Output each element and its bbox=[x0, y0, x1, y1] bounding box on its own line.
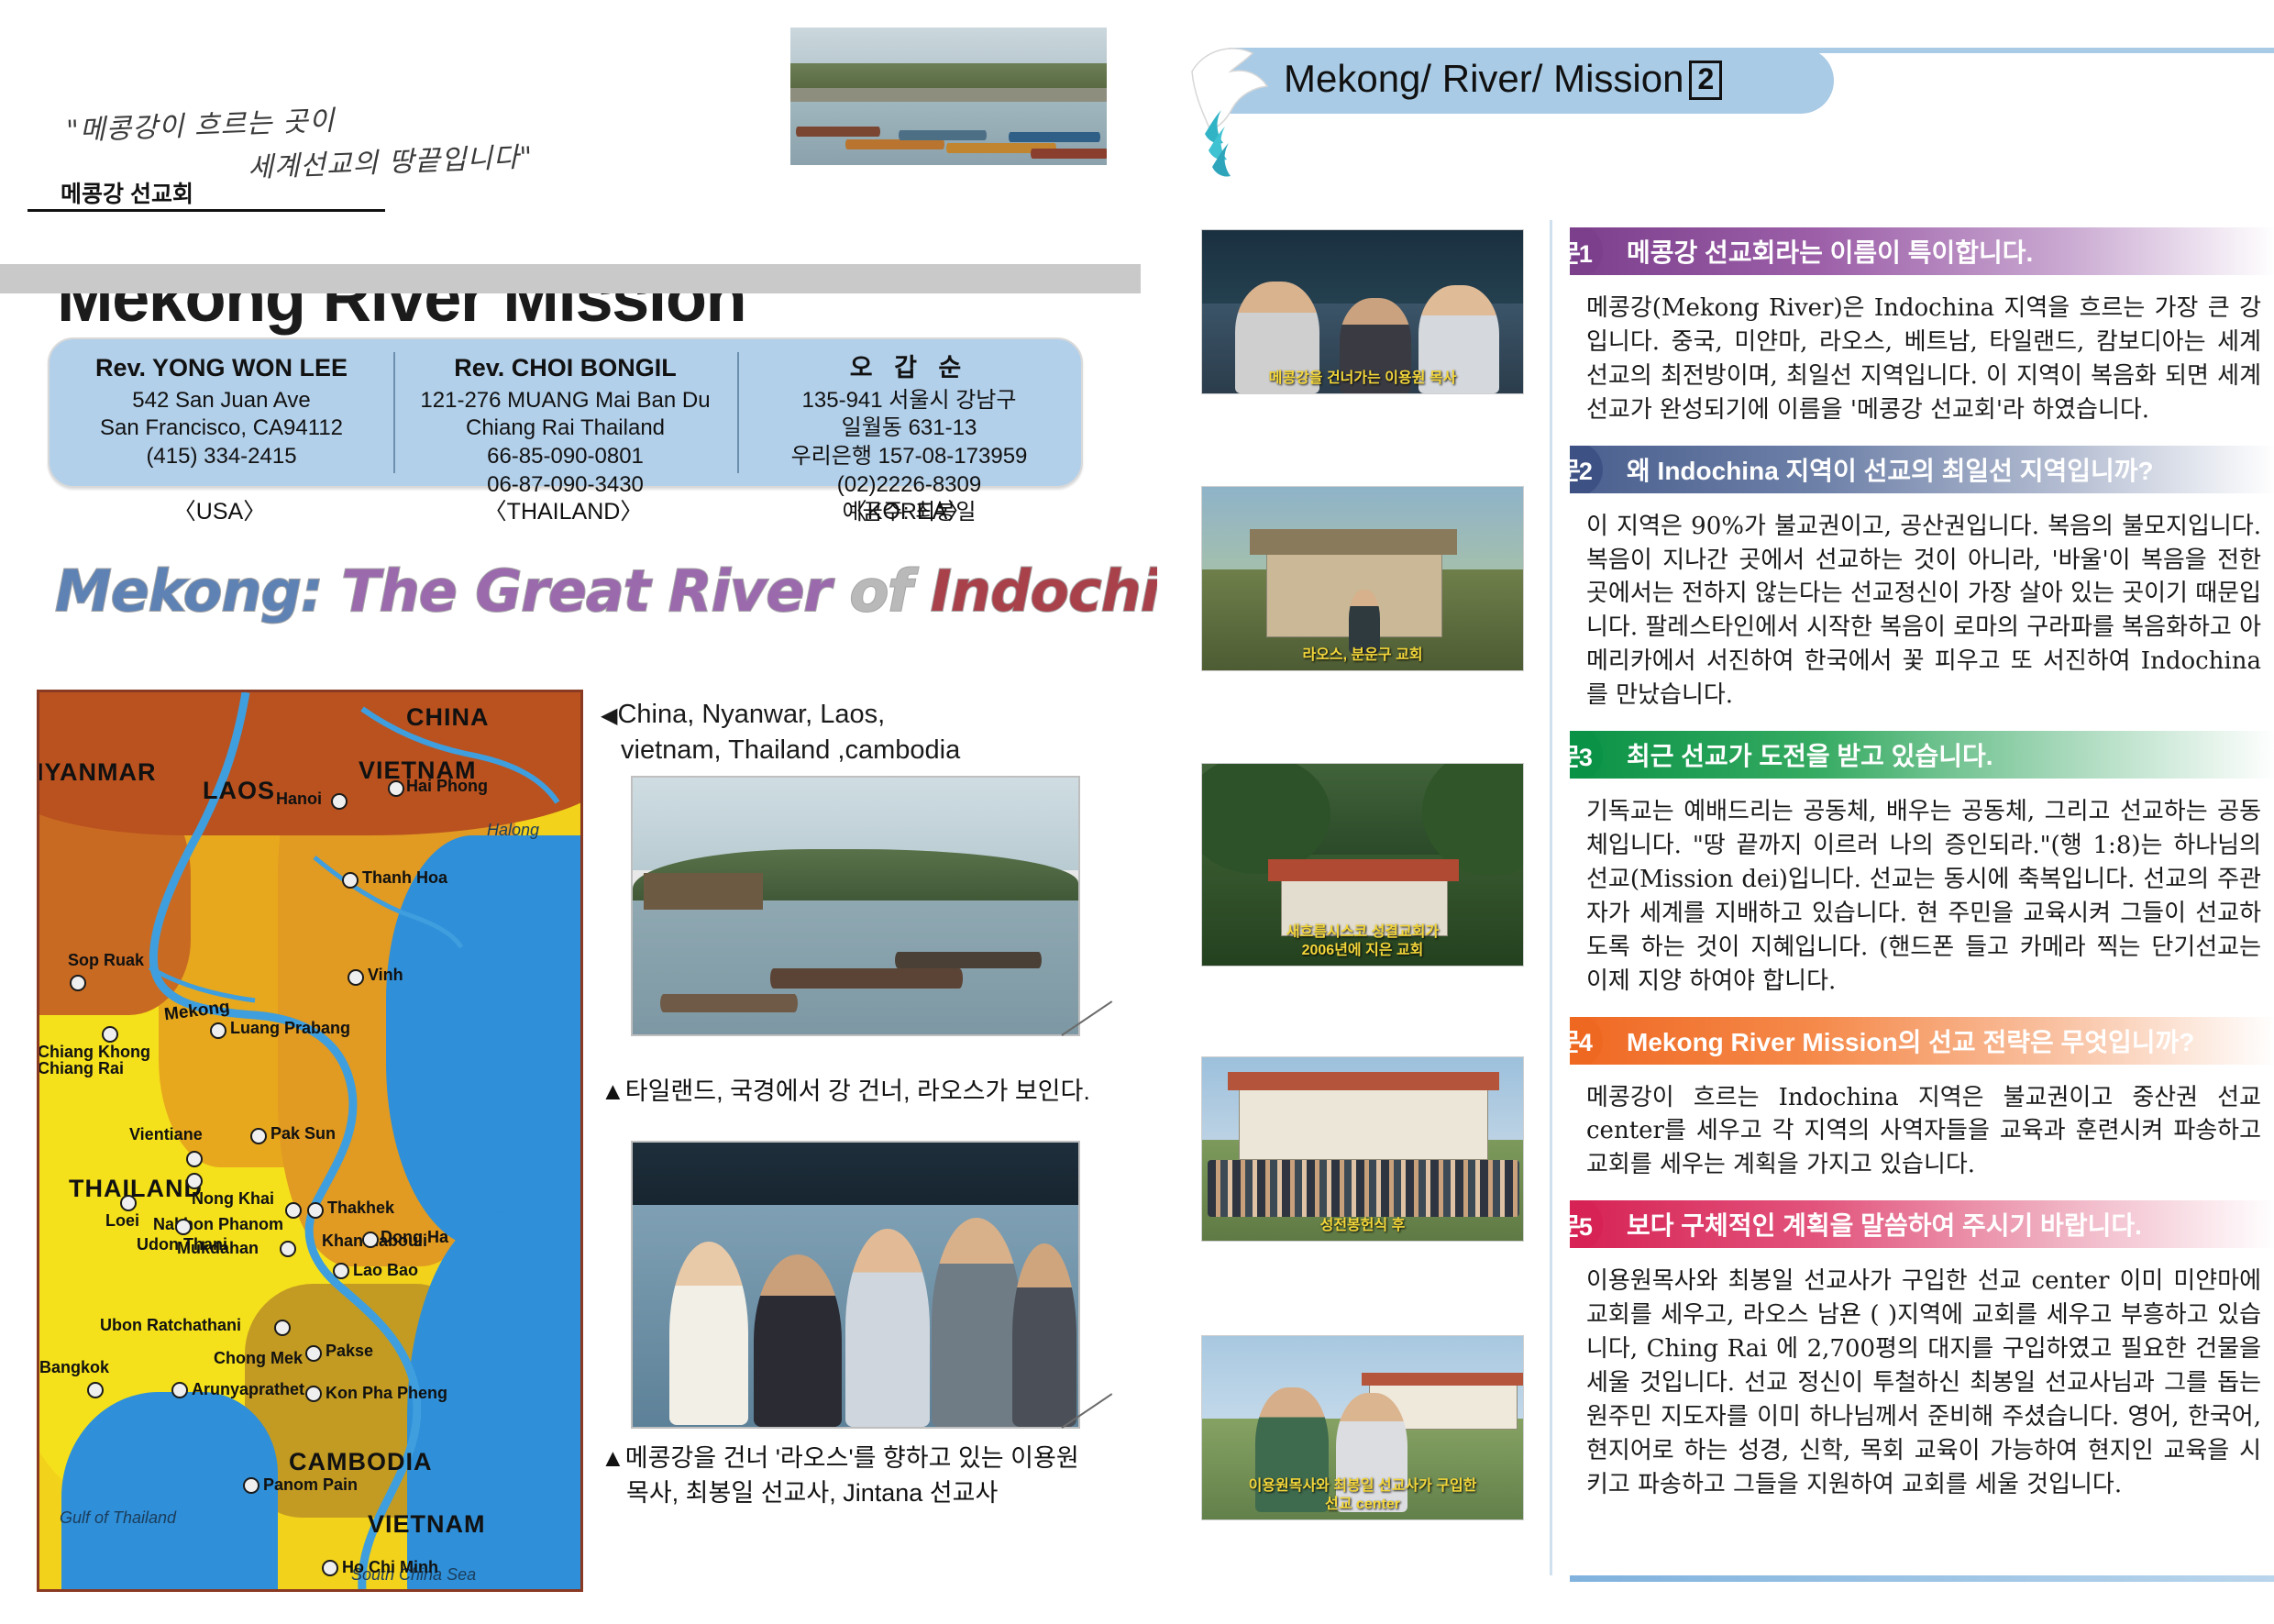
map-city-nong-khai: Nong Khai bbox=[186, 1173, 203, 1189]
contact-name: Rev. CHOI BONGIL bbox=[393, 352, 737, 384]
banner-title: Mekong/ River/ Mission2 bbox=[1284, 57, 1722, 101]
photo-crossing-mekong: 메콩강을 건너가는 이용원 목사 bbox=[1201, 229, 1524, 394]
map-label-myanmar: MYANMAR bbox=[37, 758, 157, 787]
map-label-china: CHINA bbox=[406, 703, 490, 732]
contact-name: Rev. YONG WON LEE bbox=[50, 352, 393, 384]
title-divider bbox=[28, 209, 385, 212]
map-city-ho-chi-minh: Ho Chi Minh bbox=[322, 1560, 338, 1576]
photo-boat bbox=[796, 127, 880, 137]
photo-boat bbox=[1031, 149, 1107, 159]
map-city-bangkok: Bangkok bbox=[87, 1382, 104, 1398]
headline-part-the-great-river: The Great River bbox=[341, 558, 831, 624]
qa-question-text: 최근 선교가 도전을 받고 있습니다. bbox=[1627, 736, 1993, 773]
map-city-nakhon-phanom: Nakhon Phanom bbox=[285, 1202, 302, 1219]
map-label-gulf-of-thailand: Gulf of Thailand bbox=[60, 1508, 176, 1528]
photo-river-crossing bbox=[631, 776, 1080, 1036]
photo-person bbox=[845, 1229, 930, 1427]
contact-usa: Rev. YONG WON LEE 542 San Juan Ave San F… bbox=[50, 339, 393, 486]
caption-line: China, Nyanwar, Laos, bbox=[617, 700, 885, 729]
caption-line: 새흐름시스코 성결교회가 bbox=[1202, 923, 1523, 942]
qa-block-5: 문5 보다 구체적인 계획을 말씀하여 주시기 바랍니다. 이용원목사와 최봉일… bbox=[1570, 1200, 2274, 1510]
headline-part-of: of bbox=[850, 558, 912, 624]
caption-line: 라오스, 분운구 교회 bbox=[1202, 646, 1523, 665]
photo-dedication-ceremony: 성전봉헌식 후 bbox=[1201, 1056, 1524, 1242]
qa-answer-text: 메콩강이 흐르는 Indochina 지역은 불교권이고 중산권 선교 cent… bbox=[1570, 1065, 2274, 1192]
photo-canopy bbox=[633, 1143, 1078, 1210]
map-label-laos: LAOS bbox=[203, 777, 275, 805]
map-city-thanh-hoa: Thanh Hoa bbox=[342, 872, 359, 889]
caption-line: 메콩강을 건너가는 이용원 목사 bbox=[1202, 370, 1523, 388]
contact-line: 121-276 MUANG Mai Ban Du bbox=[393, 387, 737, 415]
right-column-divider bbox=[1550, 220, 1552, 1575]
map-city-sop-ruak: Sop Ruak bbox=[70, 975, 86, 991]
photo-roof bbox=[1228, 1072, 1499, 1090]
map-city-luang-prabang: Luang Prabang bbox=[210, 1022, 226, 1039]
caption-line: 선교 center bbox=[1202, 1496, 1523, 1514]
tagline-line-1: "메콩강이 흐르는 곳이 bbox=[65, 97, 336, 148]
map-label-halong: Halong bbox=[487, 821, 539, 840]
photo-person bbox=[754, 1254, 842, 1427]
qa-block-4: 문4 Mekong River Mission의 선교 전략은 무엇입니까? 메… bbox=[1570, 1017, 2274, 1192]
contact-line: San Francisco, CA94112 bbox=[50, 414, 393, 443]
photo-boat bbox=[660, 994, 798, 1012]
caption-line: vietnam, Thailand ,cambodia bbox=[601, 733, 960, 768]
photo-person bbox=[1012, 1243, 1076, 1427]
qa-badge: 문2 bbox=[1570, 446, 1603, 493]
dove-icon bbox=[1183, 35, 1293, 182]
photo-person bbox=[932, 1218, 1021, 1427]
qa-block-2: 문2 왜 Indochina 지역이 선교의 최일선 지역입니까? 이 지역은 … bbox=[1570, 446, 2274, 722]
photo-church-built-2006: 새흐름시스코 성결교회가 2006년에 지은 교회 bbox=[1201, 763, 1524, 967]
contact-line: 66-85-090-0801 bbox=[393, 443, 737, 471]
qa-question-text: Mekong River Mission의 선교 전략은 무엇입니까? bbox=[1627, 1022, 2194, 1059]
contact-line: 135-941 서울시 강남구 bbox=[737, 387, 1081, 415]
contact-line: 우리은행 157-08-173959 bbox=[737, 443, 1081, 471]
contact-box: Rev. YONG WON LEE 542 San Juan Ave San F… bbox=[48, 337, 1083, 488]
caption-line: 이용원목사와 최봉일 선교사가 구입한 bbox=[1202, 1477, 1523, 1496]
qa-badge: 문1 bbox=[1570, 227, 1603, 275]
caption-line: 성전봉헌식 후 bbox=[1202, 1217, 1523, 1235]
photo-caption: 성전봉헌식 후 bbox=[1202, 1217, 1523, 1235]
photo-group-on-boat bbox=[631, 1141, 1080, 1429]
header-grey-band bbox=[0, 264, 1141, 293]
map-city-hanoi: Hanoi bbox=[331, 793, 348, 810]
map-city-thakhek: Thakhek bbox=[307, 1202, 324, 1219]
map-city-ubon-ratchathani: Ubon Ratchathani bbox=[274, 1320, 291, 1336]
caption-thailand: ▲타일랜드, 국경에서 강 건너, 라오스가 보인다. bbox=[601, 1075, 1090, 1110]
country-label-usa: 〈USA〉 bbox=[48, 493, 392, 526]
qa-question-header: 문5 보다 구체적인 계획을 말씀하여 주시기 바랍니다. bbox=[1570, 1200, 2274, 1248]
map-city-vientiane: Vientiane bbox=[186, 1151, 203, 1167]
qa-badge: 문4 bbox=[1570, 1017, 1603, 1065]
qa-answer-text: 메콩강(Mekong River)은 Indochina 지역을 흐르는 가장 … bbox=[1570, 275, 2274, 436]
caption-line: 2006년에 지은 교회 bbox=[1202, 942, 1523, 960]
map-city-lao-bao: Lao Bao bbox=[333, 1263, 349, 1279]
right-page-bottom-rule bbox=[1570, 1575, 2274, 1582]
qa-question-header: 문1 메콩강 선교회라는 이름이 특이합니다. bbox=[1570, 227, 2274, 275]
headline-part-mekong: Mekong: bbox=[55, 558, 323, 624]
map-countries-caption: ◀China, Nyanwar, Laos, vietnam, Thailand… bbox=[601, 697, 960, 768]
qa-answer-text: 이 지역은 90%가 불교권이고, 공산권입니다. 복음의 불모지입니다. 복음… bbox=[1570, 493, 2274, 722]
left-page: "메콩강이 흐르는 곳이 세계선교의 땅끝입니다" 메콩강 선교회 Mekong… bbox=[0, 0, 1141, 1624]
great-river-headline: Mekong: The Great River of Indochina bbox=[55, 558, 1236, 624]
map-city-chiang-khong: Chiang Khong bbox=[102, 1026, 118, 1043]
caption-mekong-crossing: ▲메콩강을 건너 '라오스'를 향하고 있는 이용원 목사, 최봉일 선교사, … bbox=[601, 1442, 1079, 1511]
map-city-kon-pha-pheng: Kon Pha Pheng bbox=[305, 1386, 322, 1402]
contact-thailand: Rev. CHOI BONGIL 121-276 MUANG Mai Ban D… bbox=[393, 339, 737, 486]
photo-boat bbox=[899, 130, 987, 140]
qa-question-text: 메콩강 선교회라는 이름이 특이합니다. bbox=[1627, 233, 2033, 270]
map-city-pakse: Pakse bbox=[305, 1345, 322, 1362]
qa-question-header: 문2 왜 Indochina 지역이 선교의 최일선 지역입니까? bbox=[1570, 446, 2274, 493]
banner-title-text: Mekong/ River/ Mission bbox=[1284, 57, 1683, 100]
caption-line: ▲메콩강을 건너 '라오스'를 향하고 있는 이용원 bbox=[601, 1442, 1079, 1476]
contact-line: 542 San Juan Ave bbox=[50, 387, 393, 415]
country-labels: 〈USA〉 〈THAILAND〉 〈KOREA〉 bbox=[48, 493, 1079, 526]
photo-boat bbox=[770, 968, 963, 989]
photo-boat bbox=[895, 952, 1042, 968]
map-city-udon-thani: Udon Thani bbox=[175, 1219, 192, 1235]
photo-boat bbox=[1009, 132, 1100, 142]
map-city-pak-sun: Pak Sun bbox=[250, 1128, 267, 1144]
qa-block-3: 문3 최근 선교가 도전을 받고 있습니다. 기독교는 예배드리는 공동체, 배… bbox=[1570, 731, 2274, 1007]
left-triangle-icon: ◀ bbox=[601, 703, 617, 728]
photo-caption: 이용원목사와 최봉일 선교사가 구입한 선교 center bbox=[1202, 1477, 1523, 1514]
photo-boat bbox=[845, 139, 944, 149]
map-city-mukdahan: Mukdahan bbox=[280, 1241, 296, 1257]
country-label-thailand: 〈THAILAND〉 bbox=[392, 493, 735, 526]
contact-line: (415) 334-2415 bbox=[50, 443, 393, 471]
contact-korea: 오 갑 순 135-941 서울시 강남구 일월동 631-13 우리은행 15… bbox=[737, 339, 1081, 486]
photo-caption: 라오스, 분운구 교회 bbox=[1202, 646, 1523, 665]
qa-question-header: 문3 최근 선교가 도전을 받고 있습니다. bbox=[1570, 731, 2274, 779]
map-city-hai-phong: Hai Phong bbox=[388, 780, 404, 797]
qa-question-text: 보다 구체적인 계획을 말씀하여 주시기 바랍니다. bbox=[1627, 1206, 2142, 1243]
photo-mission-center: 이용원목사와 최봉일 선교사가 구입한 선교 center bbox=[1201, 1335, 1524, 1520]
map-label-cambodia: CAMBODIA bbox=[289, 1448, 433, 1476]
indochina-map: CHINA MYANMAR LAOS VIETNAM THAILAND CAMB… bbox=[37, 690, 583, 1592]
country-label-korea: 〈KOREA〉 bbox=[735, 493, 1079, 526]
qa-badge: 문3 bbox=[1570, 731, 1603, 779]
photo-shoreline bbox=[790, 88, 1107, 102]
tagline-line-2: 세계선교의 땅끝입니다" bbox=[247, 134, 534, 185]
org-name-korean: 메콩강 선교회 bbox=[61, 176, 193, 209]
banner-page-number: 2 bbox=[1689, 61, 1722, 100]
photo-roof bbox=[1362, 1373, 1523, 1386]
qa-answer-text: 이용원목사와 최봉일 선교사가 구입한 선교 center 이미 미얀마에 교회… bbox=[1570, 1248, 2274, 1510]
photo-shelter bbox=[644, 873, 763, 910]
photo-roof bbox=[1250, 529, 1457, 555]
photo-laos-church: 라오스, 분운구 교회 bbox=[1201, 486, 1524, 671]
map-label-vietnam-south: VIETNAM bbox=[368, 1510, 486, 1539]
map-city-loei: Loei bbox=[120, 1195, 137, 1211]
qa-question-text: 왜 Indochina 지역이 선교의 최일선 지역입니까? bbox=[1627, 451, 2154, 488]
photo-crowd bbox=[1208, 1160, 1519, 1217]
map-city-vinh: Vinh bbox=[348, 969, 364, 986]
map-city-arunyaprathet: Arunyaprathet bbox=[171, 1382, 188, 1398]
qa-answer-text: 기독교는 예배드리는 공동체, 배우는 공동체, 그리고 선교하는 공동체입니다… bbox=[1570, 779, 2274, 1007]
photo-caption: 메콩강을 건너가는 이용원 목사 bbox=[1202, 370, 1523, 388]
caption-line: 목사, 최봉일 선교사, Jintana 선교사 bbox=[601, 1476, 1079, 1511]
qa-question-header: 문4 Mekong River Mission의 선교 전략은 무엇입니까? bbox=[1570, 1017, 2274, 1065]
photo-roof bbox=[1268, 859, 1459, 881]
qa-column: 문1 메콩강 선교회라는 이름이 특이합니다. 메콩강(Mekong River… bbox=[1570, 227, 2274, 1520]
contact-name: 오 갑 순 bbox=[737, 352, 1081, 384]
photo-person bbox=[669, 1242, 748, 1425]
qa-badge: 문5 bbox=[1570, 1200, 1603, 1248]
map-city-dong-ha: Dong Ha bbox=[362, 1232, 379, 1248]
header-photo-riverside bbox=[790, 28, 1107, 165]
map-city-panom-pain: Panom Pain bbox=[243, 1477, 259, 1494]
photo-building bbox=[1239, 1087, 1488, 1160]
qa-block-1: 문1 메콩강 선교회라는 이름이 특이합니다. 메콩강(Mekong River… bbox=[1570, 227, 2274, 436]
photo-caption: 새흐름시스코 성결교회가 2006년에 지은 교회 bbox=[1202, 923, 1523, 960]
photo-person bbox=[1349, 590, 1380, 654]
contact-line: 일월동 631-13 bbox=[737, 414, 1081, 443]
contact-line: Chiang Rai Thailand bbox=[393, 414, 737, 443]
